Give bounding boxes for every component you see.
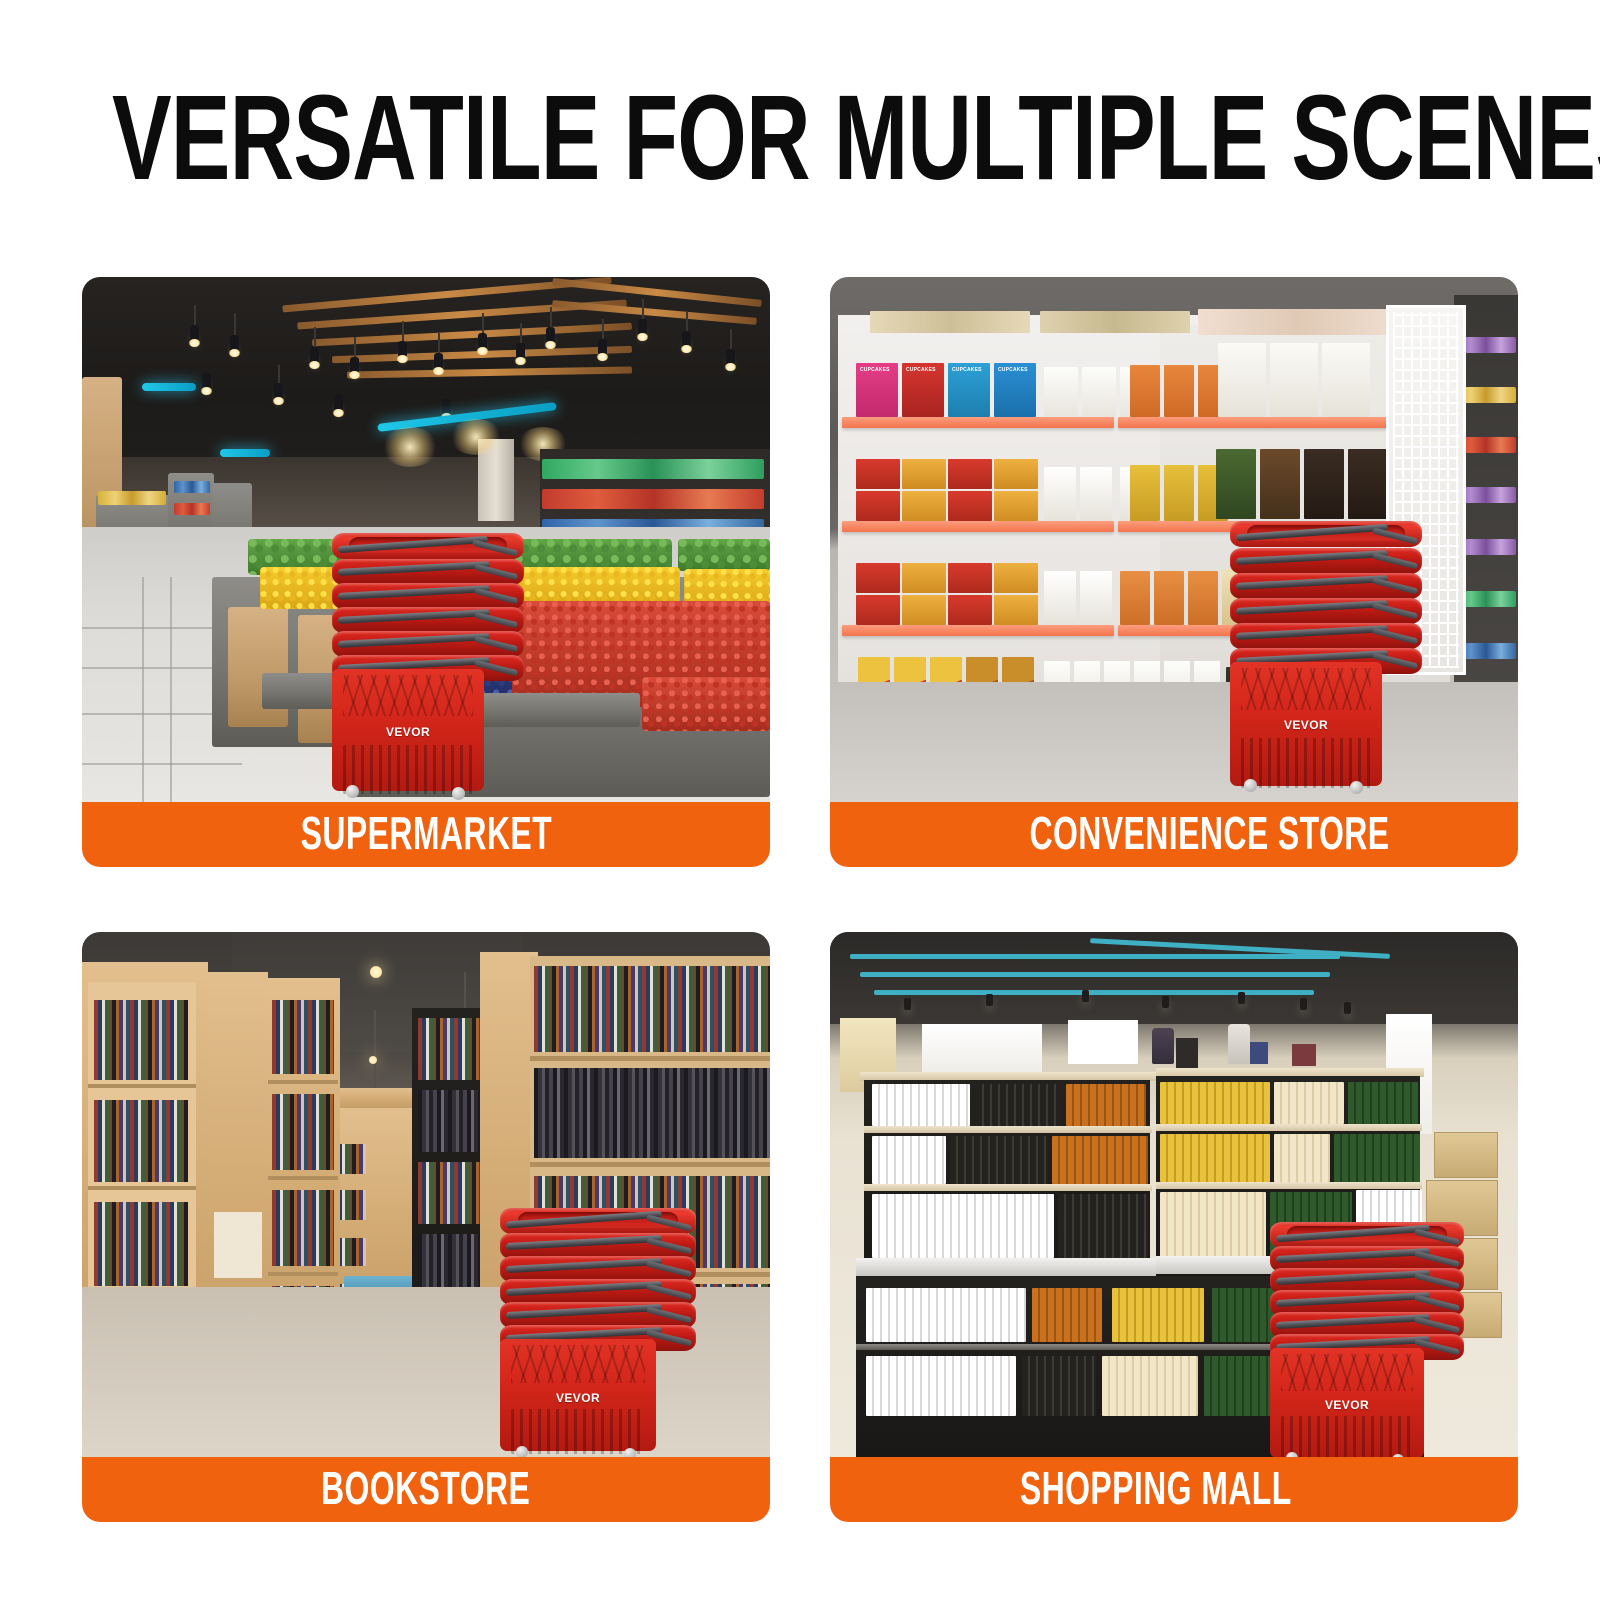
caption-label-bookstore: BOOKSTORE xyxy=(321,1464,530,1516)
caption-bar-bookstore: BOOKSTORE xyxy=(82,1457,770,1522)
brand-logo: VEVOR xyxy=(386,725,430,739)
panel-convenience-store[interactable]: CUPCAKES CUPCAKES CUPCAKES CUPCAKES xyxy=(830,277,1518,867)
product-basket-stack: VEVOR xyxy=(1270,1222,1464,1457)
panel-supermarket[interactable]: VEVOR SUPERMARKET xyxy=(82,277,770,867)
caption-label-shopping-mall: SHOPPING MALL xyxy=(1020,1464,1292,1516)
page-title: VERSATILE FOR MULTIPLE SCENES xyxy=(112,78,1488,199)
panel-bookstore[interactable]: VEVOR BOOKSTORE xyxy=(82,932,770,1522)
scene-grid: VEVOR SUPERMARKET xyxy=(82,277,1518,1522)
shopping-mall-photo: VEVOR xyxy=(830,932,1518,1457)
bookstore-photo: VEVOR xyxy=(82,932,770,1457)
caption-label-convenience-store: CONVENIENCE STORE xyxy=(1030,809,1390,861)
panel-shopping-mall[interactable]: VEVOR SHOPPING MALL xyxy=(830,932,1518,1522)
product-basket-stack: VEVOR xyxy=(500,1208,696,1456)
product-infographic: VERSATILE FOR MULTIPLE SCENES xyxy=(0,0,1600,1600)
caption-bar-convenience-store: CONVENIENCE STORE xyxy=(830,802,1518,867)
caption-bar-shopping-mall: SHOPPING MALL xyxy=(830,1457,1518,1522)
supermarket-photo: VEVOR xyxy=(82,277,770,802)
brand-logo: VEVOR xyxy=(1325,1398,1369,1412)
brand-logo: VEVOR xyxy=(1284,718,1328,732)
brand-logo: VEVOR xyxy=(556,1391,600,1405)
convenience-store-photo: CUPCAKES CUPCAKES CUPCAKES CUPCAKES xyxy=(830,277,1518,802)
product-basket-stack: VEVOR xyxy=(1230,521,1422,797)
caption-bar-supermarket: SUPERMARKET xyxy=(82,802,770,867)
caption-label-supermarket: SUPERMARKET xyxy=(300,809,551,861)
product-basket-stack: VEVOR xyxy=(332,533,524,801)
